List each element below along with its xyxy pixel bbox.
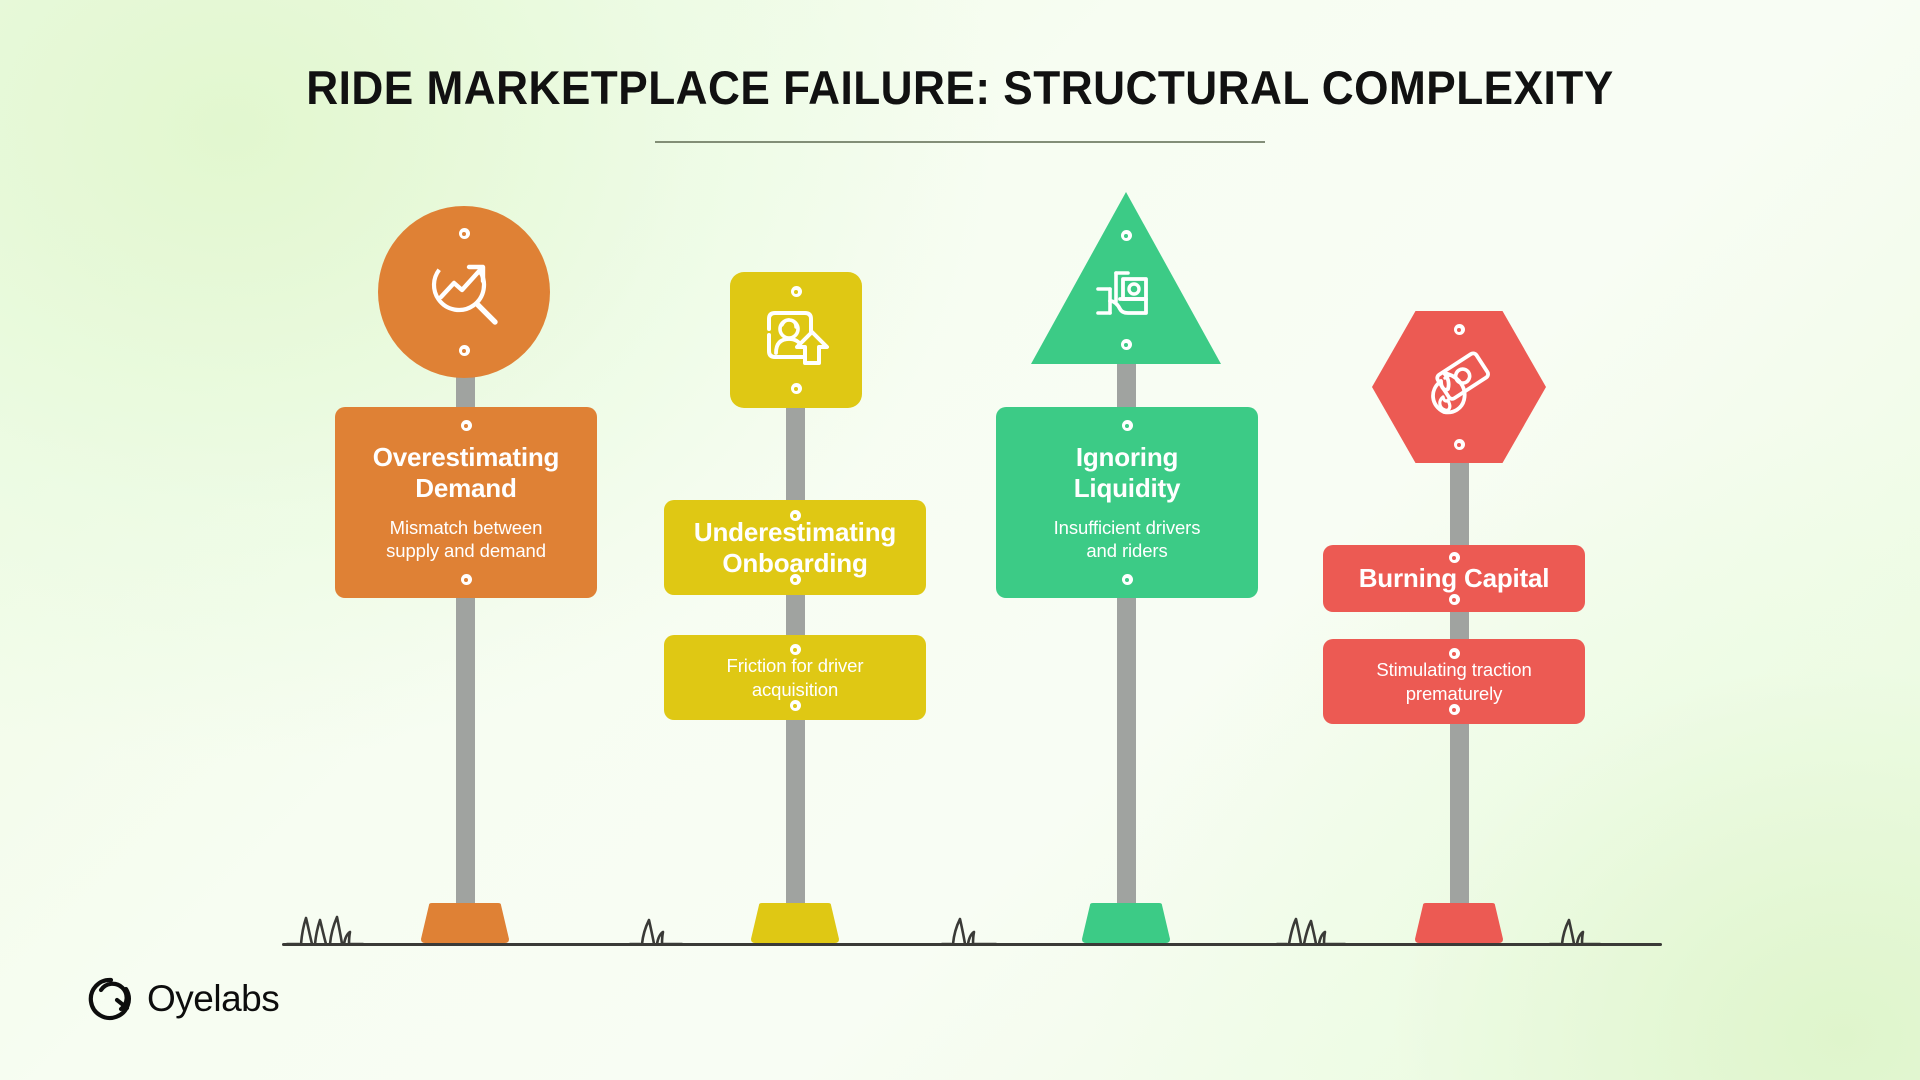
base-ignoring-liquidity (1080, 903, 1172, 943)
grass-tuft-4 (1275, 902, 1349, 946)
screw-icon (790, 644, 801, 655)
sign-panel-burning-capital[interactable]: Burning Capital (1323, 545, 1585, 612)
screw-icon (1121, 339, 1132, 350)
icon-sign-underestimating-onboarding[interactable] (730, 272, 862, 408)
grass-tuft-2 (628, 905, 686, 946)
sign-heading-line2: Demand (373, 473, 560, 503)
screw-icon (1449, 704, 1460, 715)
screw-icon (1449, 594, 1460, 605)
sign-subtext-line1: Insufficient drivers (1054, 516, 1201, 539)
magnifier-trend-up-icon (421, 249, 507, 335)
infographic-canvas: RIDE MARKETPLACE FAILURE: STRUCTURAL COM… (0, 0, 1920, 1080)
sign-heading: Ignoring Liquidity (1074, 442, 1181, 503)
screw-icon (791, 286, 802, 297)
screw-icon (791, 383, 802, 394)
sign-heading: Underestimating Onboarding (694, 517, 896, 578)
screw-icon (1454, 324, 1465, 335)
sign-panel-ignoring-liquidity[interactable]: Ignoring Liquidity Insufficient drivers … (996, 407, 1258, 598)
screw-icon (790, 510, 801, 521)
screw-icon (1121, 230, 1132, 241)
grass-tuft-1 (285, 900, 365, 946)
sign-heading-line2: Liquidity (1074, 473, 1181, 503)
brand-name: Oyelabs (147, 978, 279, 1020)
sign-subtext: Insufficient drivers and riders (1054, 516, 1201, 562)
screw-icon (461, 420, 472, 431)
icon-sign-burning-capital[interactable] (1372, 311, 1546, 463)
sign-subtext-line2: prematurely (1376, 682, 1531, 705)
sign-subtext-line2: supply and demand (386, 539, 546, 562)
screw-icon (1449, 552, 1460, 563)
sign-subtext-line1: Friction for driver (727, 654, 864, 677)
screw-icon (459, 228, 470, 239)
burning-money-icon (1418, 346, 1500, 428)
sign-subtext-line1: Mismatch between (386, 516, 546, 539)
sign-heading-line1: Ignoring (1074, 442, 1181, 472)
screw-icon (1122, 574, 1133, 585)
sign-panel-stimulating-traction[interactable]: Stimulating traction prematurely (1323, 639, 1585, 724)
sign-heading-line1: Overestimating (373, 442, 560, 472)
grass-tuft-5 (1548, 905, 1604, 946)
base-underestimating-onboarding (749, 903, 841, 943)
oyelabs-circular-mark-icon (88, 976, 134, 1022)
sign-subtext-line2: and riders (1054, 539, 1201, 562)
header: RIDE MARKETPLACE FAILURE: STRUCTURAL COM… (0, 60, 1920, 143)
sign-subtext: Stimulating traction prematurely (1376, 658, 1531, 704)
sign-subtext: Mismatch between supply and demand (386, 516, 546, 562)
base-overestimating-demand (419, 903, 511, 943)
sign-subtext-line2: acquisition (727, 678, 864, 701)
screw-icon (461, 574, 472, 585)
grass-tuft-3 (940, 905, 1000, 946)
screw-icon (1454, 439, 1465, 450)
sign-heading: Burning Capital (1359, 563, 1550, 593)
title-divider (655, 141, 1265, 143)
sign-panel-overestimating-demand[interactable]: Overestimating Demand Mismatch between s… (335, 407, 597, 598)
brand-logo[interactable]: Oyelabs (88, 976, 279, 1022)
screw-icon (790, 700, 801, 711)
user-upload-onboarding-icon (757, 301, 835, 379)
page-title: RIDE MARKETPLACE FAILURE: STRUCTURAL COM… (58, 60, 1863, 115)
screw-icon (1122, 420, 1133, 431)
screw-icon (790, 574, 801, 585)
sign-heading-line1: Burning Capital (1359, 563, 1550, 593)
screw-icon (1449, 648, 1460, 659)
base-burning-capital (1413, 903, 1505, 943)
screw-icon (459, 345, 470, 356)
sign-panel-underestimating-onboarding[interactable]: Underestimating Onboarding (664, 500, 926, 595)
icon-sign-ignoring-liquidity[interactable] (1031, 192, 1221, 364)
sign-heading-line1: Underestimating (694, 517, 896, 547)
icon-sign-overestimating-demand[interactable] (378, 206, 550, 378)
sign-heading: Overestimating Demand (373, 442, 560, 503)
sign-panel-friction-driver-acquisition[interactable]: Friction for driver acquisition (664, 635, 926, 720)
cash-liquidity-icon (1090, 257, 1162, 329)
sign-subtext: Friction for driver acquisition (727, 654, 864, 700)
sign-subtext-line1: Stimulating traction (1376, 658, 1531, 681)
